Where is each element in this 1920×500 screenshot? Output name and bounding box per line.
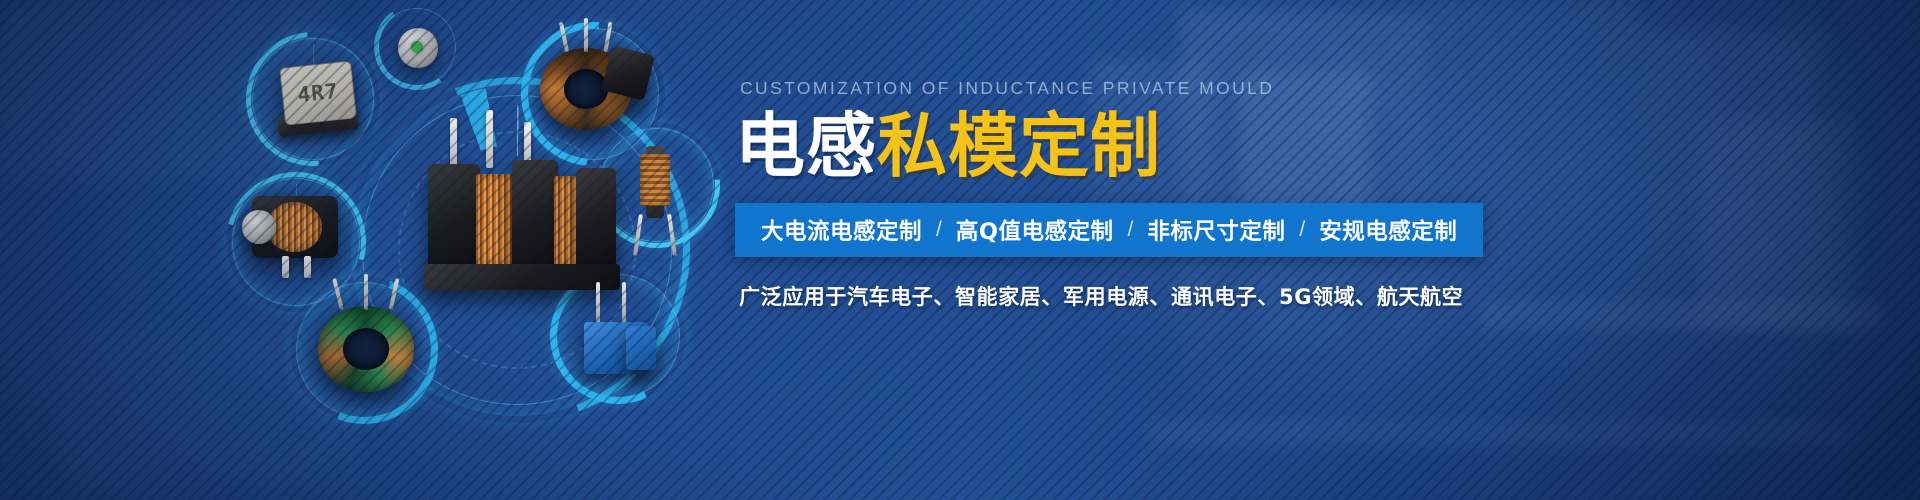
hero-banner: 4R7 <box>0 0 1920 500</box>
product-smd-power-inductor: 4R7 <box>282 64 354 122</box>
feature-item-1: 高Q值电感定制 <box>956 214 1114 246</box>
feature-separator-1: / <box>1114 218 1148 242</box>
headline-part-white: 电感 <box>735 105 877 187</box>
feature-item-3: 安规电感定制 <box>1319 214 1457 246</box>
banner-eyebrow-english: CUSTOMIZATION OF INDUCTANCE PRIVATE MOUL… <box>740 78 1735 99</box>
feature-item-0: 大电流电感定制 <box>761 214 922 246</box>
feature-bar: 大电流电感定制 / 高Q值电感定制 / 非标尺寸定制 / 安规电感定制 <box>735 203 1483 257</box>
product-toroidal-common-mode-choke <box>540 48 632 130</box>
banner-content: CUSTOMIZATION OF INDUCTANCE PRIVATE MOUL… <box>735 78 1735 311</box>
feature-separator-2: / <box>1285 218 1319 242</box>
feature-item-2: 非标尺寸定制 <box>1147 214 1285 246</box>
headline-part-gold: 私模定制 <box>877 105 1161 187</box>
banner-tagline: 广泛应用于汽车电子、智能家居、军用电源、通讯电子、5G领域、航天航空 <box>739 281 1735 311</box>
banner-headline: 电感私模定制 <box>735 110 1735 183</box>
product-green-toroid-choke <box>318 306 414 392</box>
smd-part-label: 4R7 <box>296 79 339 107</box>
feature-separator-0: / <box>922 218 956 242</box>
